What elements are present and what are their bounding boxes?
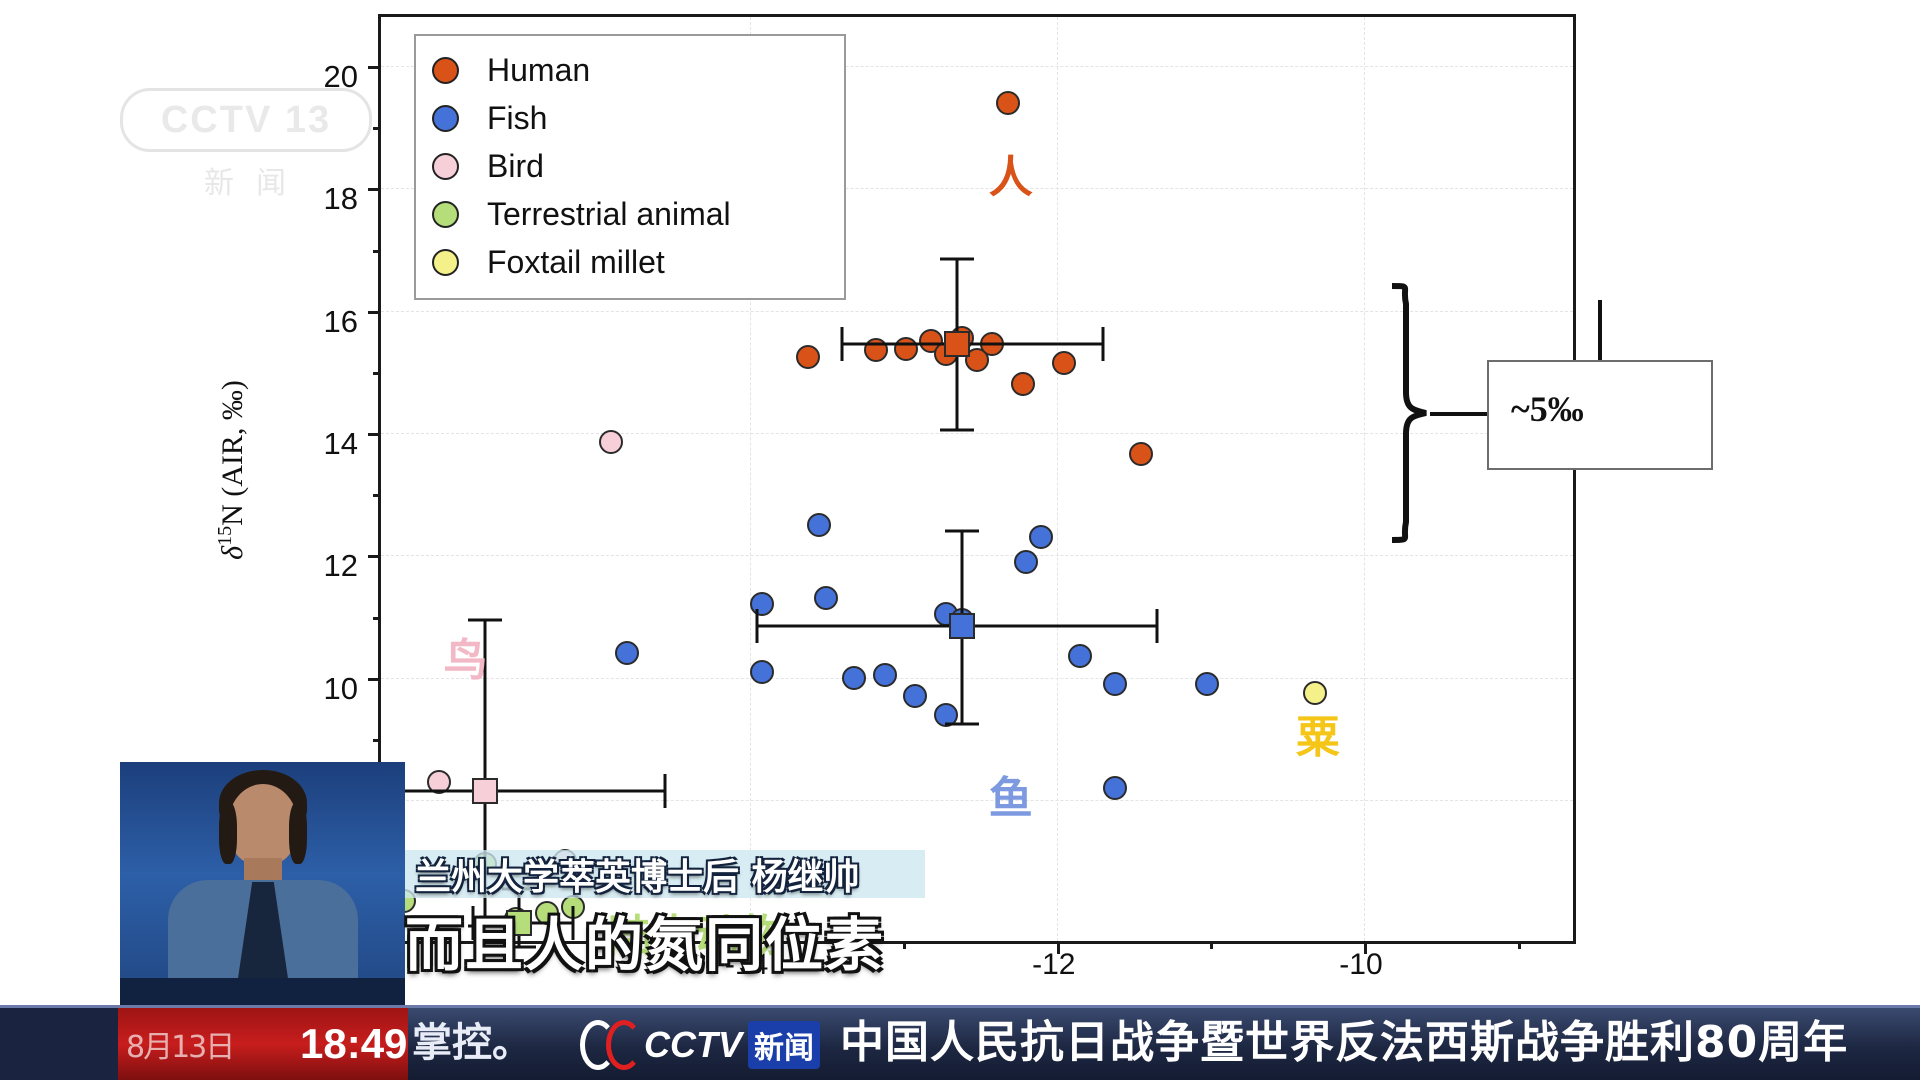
error-bar-cap — [840, 327, 843, 361]
range-brace-icon — [1386, 282, 1432, 544]
x-tick-major — [1057, 941, 1060, 954]
ticker-date: 8月13日 — [126, 1022, 233, 1066]
y-tick-major — [368, 555, 381, 558]
data-point-fish — [1029, 525, 1053, 549]
callout-text: ~5‰ — [1511, 388, 1584, 430]
legend-label: Fish — [487, 102, 547, 134]
data-point-fish — [615, 641, 639, 665]
y-tick-label: 10 — [324, 671, 358, 707]
presenter-video-inset — [120, 762, 405, 1012]
grid-line-vertical — [1364, 17, 1365, 941]
x-tick-major — [1364, 941, 1367, 954]
data-point-fish — [842, 666, 866, 690]
data-point-human — [1129, 442, 1153, 466]
x-tick-label: -10 — [1339, 948, 1382, 982]
mean-marker-bird — [472, 778, 498, 804]
y-tick-major — [368, 433, 381, 436]
y-tick-minor — [373, 127, 381, 130]
ticker-time: 18:49 — [300, 1020, 407, 1068]
ticker-caption-tail: 掌控。 — [412, 1010, 532, 1068]
chart-annotation-label: 鱼 — [989, 762, 1033, 826]
y-tick-label: 16 — [324, 304, 358, 340]
data-point-human — [1052, 351, 1076, 375]
legend-item-terrestrial-animal[interactable]: Terrestrial animal — [432, 190, 828, 238]
legend-swatch-icon — [432, 153, 459, 180]
chart-annotation-label: 人 — [989, 141, 1033, 205]
grid-line-horizontal — [381, 555, 1573, 556]
data-point-human — [1011, 372, 1035, 396]
cctv-news-text: 新闻 — [748, 1021, 820, 1069]
presenter-hair-right — [289, 802, 307, 864]
cctv-watermark: CCTV 13 新闻 — [120, 88, 370, 188]
y-tick-minor — [373, 372, 381, 375]
data-point-fish — [807, 513, 831, 537]
chart-annotation-label: 鸟 — [443, 624, 487, 688]
callout-connector-line — [1430, 412, 1488, 416]
data-point-human — [796, 345, 820, 369]
error-bar-cap — [940, 428, 974, 431]
legend-label: Foxtail millet — [487, 246, 665, 278]
y-axis-title-rest: N (AIR, ‰) — [216, 380, 249, 526]
legend-label: Terrestrial animal — [487, 198, 731, 230]
y-tick-major — [368, 678, 381, 681]
callout-box: ~5‰ — [1487, 360, 1713, 470]
callout-stem-line — [1598, 300, 1602, 362]
error-bar-cap — [1155, 609, 1158, 643]
data-point-fish — [873, 663, 897, 687]
x-tick-minor — [1210, 941, 1213, 949]
ticker-headline: 中国人民抗日战争暨世界反法西斯战争胜利80周年 — [840, 1006, 1848, 1070]
error-bar-cap — [945, 722, 979, 725]
data-point-fish — [1195, 672, 1219, 696]
legend-item-fish[interactable]: Fish — [432, 94, 828, 142]
y-tick-minor — [373, 617, 381, 620]
legend-label: Human — [487, 54, 590, 86]
grid-line-horizontal — [381, 800, 1573, 801]
error-bar-cap — [940, 257, 974, 260]
legend-swatch-icon — [432, 57, 459, 84]
data-point-fish — [1103, 776, 1127, 800]
data-point-human — [996, 91, 1020, 115]
mean-marker-human — [944, 331, 970, 357]
grid-line-horizontal — [381, 678, 1573, 679]
data-point-bird — [599, 430, 623, 454]
x-tick-label: -12 — [1032, 948, 1075, 982]
cctv-tv-text: CCTV — [644, 1024, 742, 1066]
y-axis-superscript: 15 — [214, 526, 236, 546]
error-bar-cap — [1101, 327, 1104, 361]
presenter-head — [228, 784, 298, 866]
broadcast-screen: δ15N (AIR, ‰) 2018161412108 -14-12-10 人鱼… — [0, 0, 1920, 1080]
y-tick-minor — [373, 250, 381, 253]
ticker-cctv-news-logo: CCTV 新闻 — [580, 1020, 820, 1070]
ticker-left-block — [0, 1008, 118, 1080]
y-axis-title: δ15N (AIR, ‰) — [214, 380, 250, 560]
error-bar-cap — [468, 618, 502, 621]
data-point-fish — [814, 586, 838, 610]
y-tick-major — [368, 66, 381, 69]
data-point-fish — [1068, 644, 1092, 668]
subtitle-caption: 而且人的氮同位素 — [405, 898, 885, 982]
chart-legend: HumanFishBirdTerrestrial animalFoxtail m… — [414, 34, 846, 300]
x-tick-minor — [903, 941, 906, 949]
y-tick-minor — [373, 739, 381, 742]
data-point-fish — [750, 592, 774, 616]
data-point-fish — [1014, 550, 1038, 574]
legend-item-bird[interactable]: Bird — [432, 142, 828, 190]
legend-swatch-icon — [432, 201, 459, 228]
error-bar-cap — [756, 609, 759, 643]
error-bar-horizontal — [842, 343, 1103, 346]
legend-item-human[interactable]: Human — [432, 46, 828, 94]
grid-line-vertical — [1057, 17, 1058, 941]
legend-item-foxtail-millet[interactable]: Foxtail millet — [432, 238, 828, 286]
cctv-c2-icon — [606, 1020, 642, 1070]
data-point-fish — [903, 684, 927, 708]
data-point-fish — [1103, 672, 1127, 696]
y-tick-label: 14 — [324, 426, 358, 462]
y-tick-label: 12 — [324, 548, 358, 584]
presenter-hair-left — [219, 802, 237, 864]
chart-annotation-label: 粟 — [1296, 701, 1340, 765]
data-point-fish — [750, 660, 774, 684]
data-point-human — [894, 337, 918, 361]
x-tick-minor — [1518, 941, 1521, 949]
cctv-watermark-sub: 新闻 — [120, 158, 370, 202]
y-tick-major — [368, 311, 381, 314]
y-axis-delta-symbol: δ — [216, 546, 249, 560]
cctv-logo-icon: CCTV 13 — [120, 88, 372, 152]
presenter-name-title: 兰州大学萃英博士后 杨继帅 — [415, 848, 860, 900]
error-bar-cap — [664, 774, 667, 808]
legend-swatch-icon — [432, 249, 459, 276]
y-tick-minor — [373, 494, 381, 497]
legend-swatch-icon — [432, 105, 459, 132]
legend-label: Bird — [487, 150, 544, 182]
error-bar-cap — [945, 529, 979, 532]
mean-marker-fish — [949, 613, 975, 639]
